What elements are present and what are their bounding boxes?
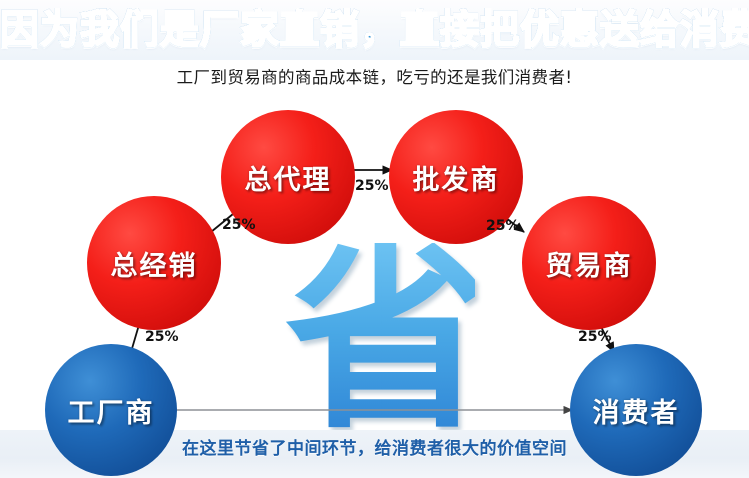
node-distributor[interactable]: 总经销 [87,196,221,330]
markup-label-distributor-agent: 25% [222,217,256,233]
footer-text: 在这里节省了中间环节，给消费者很大的价值空间 [0,434,749,459]
markup-label-factory-distributor: 25% [145,329,179,345]
node-wholesaler-label: 批发商 [413,158,500,197]
node-trader-label: 贸易商 [546,244,633,283]
node-agent-label: 总代理 [245,158,332,197]
node-distributor-label: 总经销 [111,244,198,283]
promo-banner: 因为我们是厂家直销，直接把优惠送给消费者 因为我们是厂家直销，直接把优惠送给消费… [0,0,749,478]
node-factory-label: 工厂商 [68,391,155,430]
markup-label-trader-consumer: 25% [578,329,612,345]
node-trader[interactable]: 贸易商 [522,196,656,330]
markup-label-wholesaler-trader: 25% [486,218,520,234]
node-consumer-label: 消费者 [593,391,680,430]
markup-label-agent-wholesaler: 25% [355,178,389,194]
